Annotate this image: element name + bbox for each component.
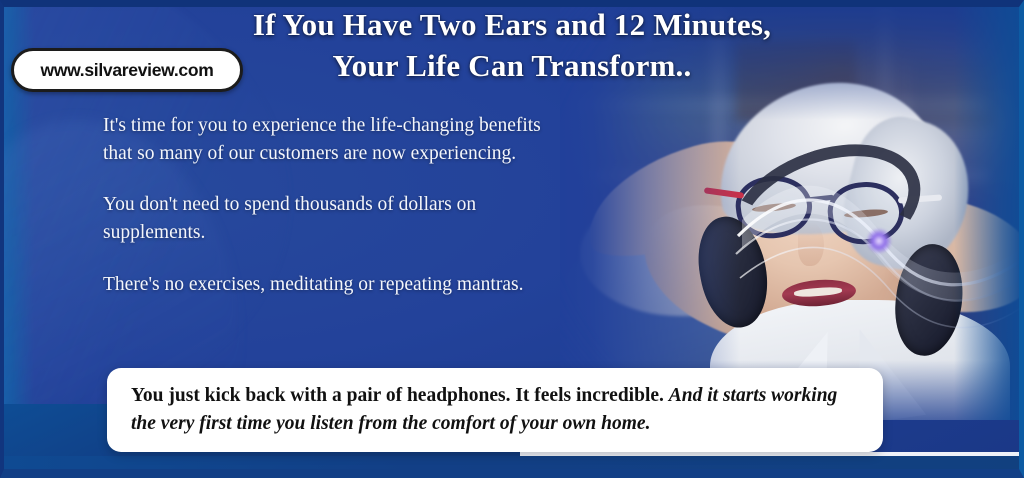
body-paragraph-1: It's time for you to experience the life… [103,112,543,167]
body-paragraph-2: You don't need to spend thousands of dol… [103,191,553,246]
headline-line-1: If You Have Two Ears and 12 Minutes, [253,7,771,42]
body-copy: It's time for you to experience the life… [103,112,603,298]
callout-box: You just kick back with a pair of headph… [107,368,883,452]
promo-banner: If You Have Two Ears and 12 Minutes, You… [0,0,1024,478]
website-url-label: www.silvareview.com [41,60,214,81]
bottom-edge-strip [0,456,1024,478]
sound-wave-glow [866,228,892,254]
photo-fade-right [954,0,1024,420]
body-paragraph-3: There's no exercises, meditating or repe… [103,271,603,299]
page-title: If You Have Two Ears and 12 Minutes, You… [150,4,874,86]
website-url-badge[interactable]: www.silvareview.com [11,48,243,92]
callout-text: You just kick back with a pair of headph… [131,382,861,438]
headline-line-2: Your Life Can Transform.. [150,45,874,86]
callout-text-bold: You just kick back with a pair of headph… [131,385,669,406]
